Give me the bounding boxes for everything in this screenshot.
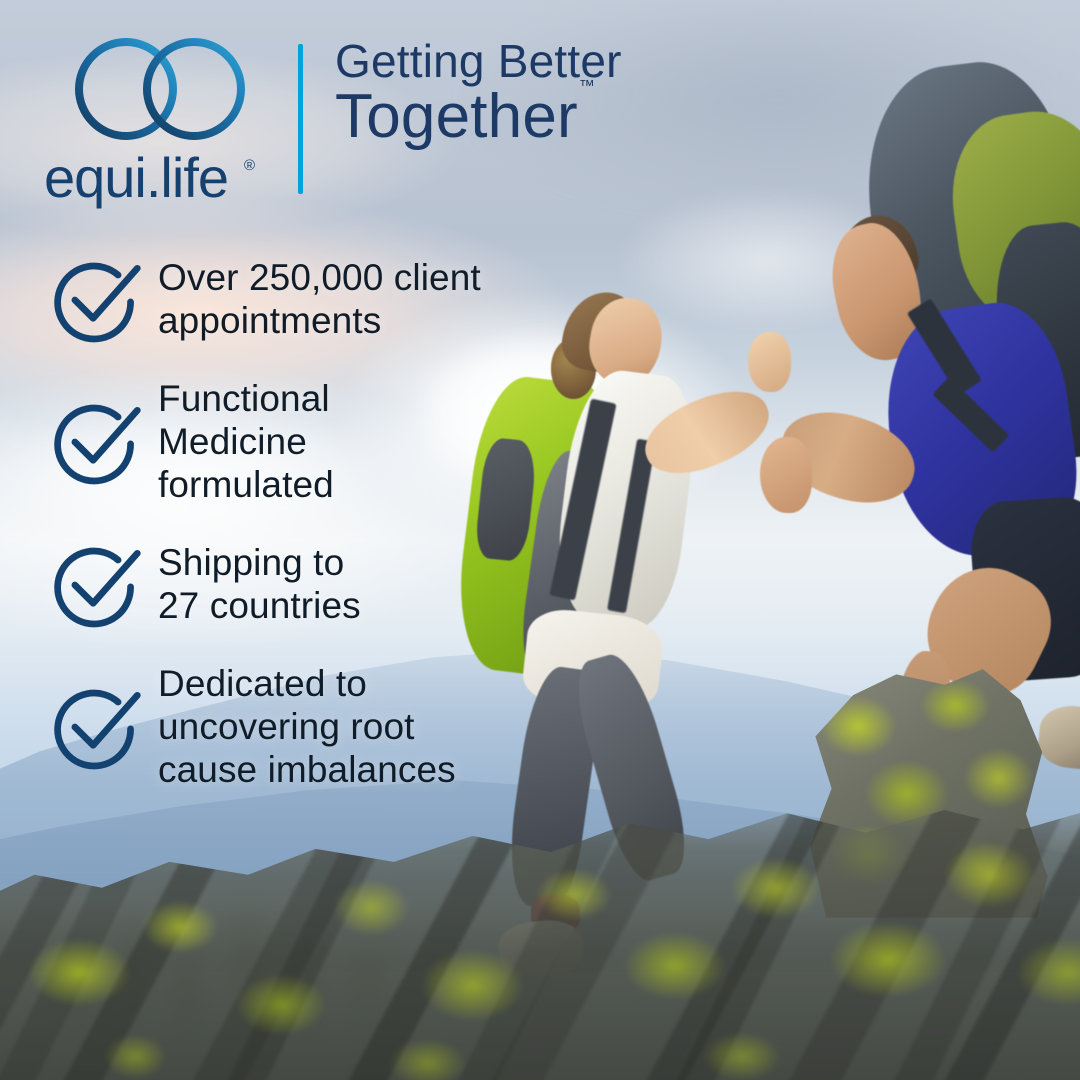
check-circle-icon <box>48 394 144 490</box>
benefit-item: Shipping to 27 countries <box>48 537 608 633</box>
check-circle-icon <box>48 252 144 348</box>
benefit-line: Medicine <box>158 421 334 464</box>
promo-poster: equi.life ® Getting Better Together™ Ove… <box>0 0 1080 1080</box>
brand-lockup: equi.life ® Getting Better Together™ <box>44 34 622 212</box>
wordmark-text: equi.life <box>44 150 228 209</box>
overlay-content: equi.life ® Getting Better Together™ Ove… <box>0 0 1080 1080</box>
check-circle-icon <box>48 537 144 633</box>
benefit-line: appointments <box>158 300 481 343</box>
benefit-text: Functional Medicine formulated <box>158 378 334 507</box>
benefit-line: Shipping to <box>158 542 361 585</box>
trademark-mark: ™ <box>579 78 595 95</box>
check-circle-icon <box>48 679 144 775</box>
benefit-line: Over 250,000 client <box>158 257 481 300</box>
tagline-line-2: Together™ <box>335 84 594 149</box>
two-overlapping-circles-icon <box>72 34 248 144</box>
brand-mark: equi.life ® <box>44 34 276 212</box>
benefit-text: Shipping to 27 countries <box>158 542 361 628</box>
benefit-line: uncovering root <box>158 706 456 749</box>
benefit-line: 27 countries <box>158 585 361 628</box>
benefit-item: Functional Medicine formulated <box>48 378 608 507</box>
benefit-line: Functional <box>158 378 334 421</box>
benefit-line: Dedicated to <box>158 663 456 706</box>
benefit-line: formulated <box>158 464 334 507</box>
tagline: Getting Better Together™ <box>335 38 622 149</box>
benefit-item: Dedicated to uncovering root cause imbal… <box>48 663 608 792</box>
registered-mark: ® <box>244 157 255 174</box>
benefit-item: Over 250,000 client appointments <box>48 252 608 348</box>
equi-life-wordmark: equi.life ® <box>44 150 276 212</box>
benefit-list: Over 250,000 client appointments Functio… <box>48 252 608 825</box>
tagline-line-2-text: Together <box>335 82 578 151</box>
benefit-line: cause imbalances <box>158 749 456 792</box>
benefit-text: Over 250,000 client appointments <box>158 257 481 343</box>
brand-divider <box>298 44 303 194</box>
benefit-text: Dedicated to uncovering root cause imbal… <box>158 663 456 792</box>
